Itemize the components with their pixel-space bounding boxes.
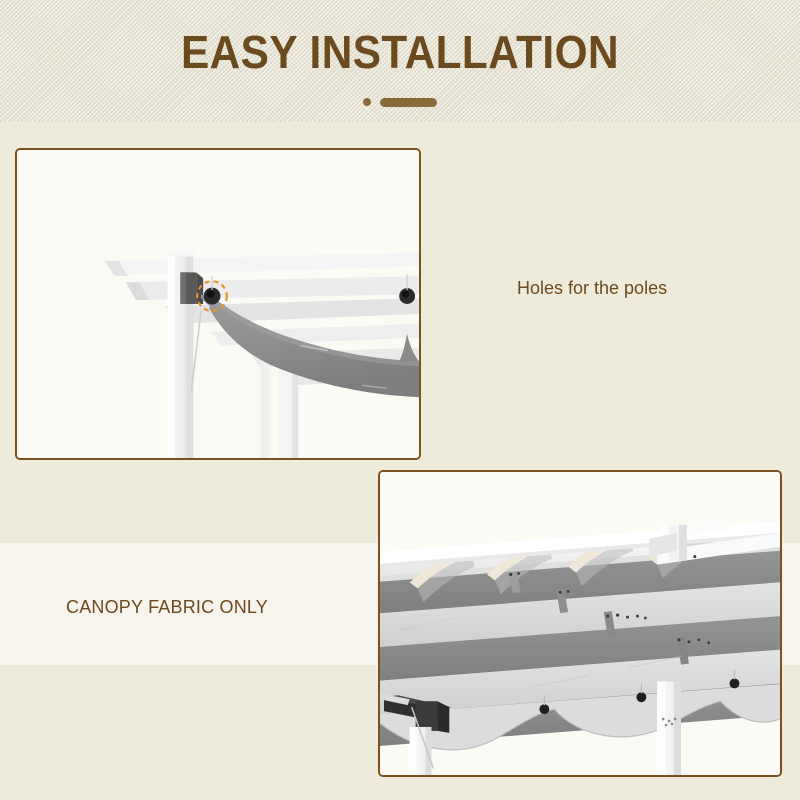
divider-dot-icon [363,98,371,106]
pergola-corner-illustration-panel [15,148,421,460]
header-divider [0,95,800,109]
pergola-post-right [657,681,681,775]
product-feature-page: EASY INSTALLATION [0,0,800,800]
page-title: EASY INSTALLATION [32,26,768,78]
pergola-canopy-illustration-image [380,472,780,775]
divider-bar-icon [380,98,437,107]
pergola-corner-illustration-image [17,150,419,458]
caption-holes-for-poles: Holes for the poles [517,276,667,300]
pergola-canopy-illustration-panel [378,470,782,777]
caption-canopy-fabric-only: CANOPY FABRIC ONLY [66,595,268,619]
